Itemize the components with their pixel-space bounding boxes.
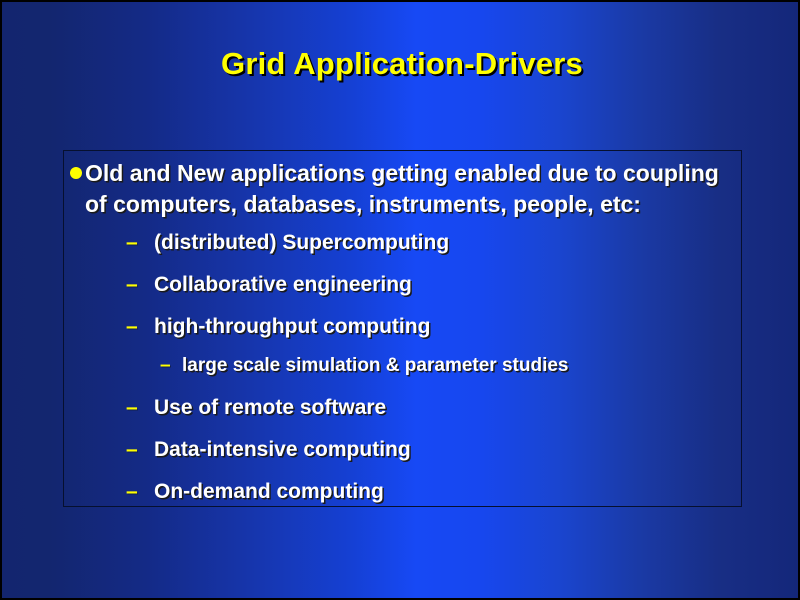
page-title: Grid Application-Drivers: [221, 46, 583, 82]
bullet-level2-high-throughput: – high-throughput computing: [63, 307, 763, 346]
dash-marker-icon: –: [126, 430, 154, 469]
bullet-level2-supercomputing: – (distributed) Supercomputing: [63, 223, 763, 262]
dash-marker-icon: –: [126, 265, 154, 304]
dash-marker-icon: –: [160, 347, 182, 385]
bullet-dot-icon: [63, 158, 85, 179]
bullet-level2-label: (distributed) Supercomputing: [154, 223, 449, 262]
bullet-level2-remote-software: – Use of remote software: [63, 388, 763, 427]
bullet-level2-label: high-throughput computing: [154, 307, 430, 346]
dash-marker-icon: –: [126, 472, 154, 511]
bullet-level1-label: Old and New applications getting enabled…: [85, 158, 725, 220]
dash-marker-icon: –: [126, 307, 154, 346]
slide-title-block: Grid Application-Drivers: [2, 46, 800, 82]
bullet-level1: Old and New applications getting enabled…: [63, 150, 763, 220]
slide-body-content: Old and New applications getting enabled…: [63, 150, 763, 511]
bullet-level3-large-scale-simulation: – large scale simulation & parameter stu…: [63, 347, 763, 385]
bullet-level2-label: Data-intensive computing: [154, 430, 411, 469]
dash-marker-icon: –: [126, 388, 154, 427]
dash-marker-icon: –: [126, 223, 154, 262]
bullet-level3-label: large scale simulation & parameter studi…: [182, 347, 569, 385]
bullet-level2-label: Use of remote software: [154, 388, 386, 427]
bullet-level2-data-intensive: – Data-intensive computing: [63, 430, 763, 469]
bullet-level2-on-demand: – On-demand computing: [63, 472, 763, 511]
bullet-level2-label: Collaborative engineering: [154, 265, 412, 304]
bullet-level2-label: On-demand computing: [154, 472, 384, 511]
bullet-level2-collaborative-engineering: – Collaborative engineering: [63, 265, 763, 304]
presentation-slide: Grid Application-Drivers Old and New app…: [0, 0, 800, 600]
